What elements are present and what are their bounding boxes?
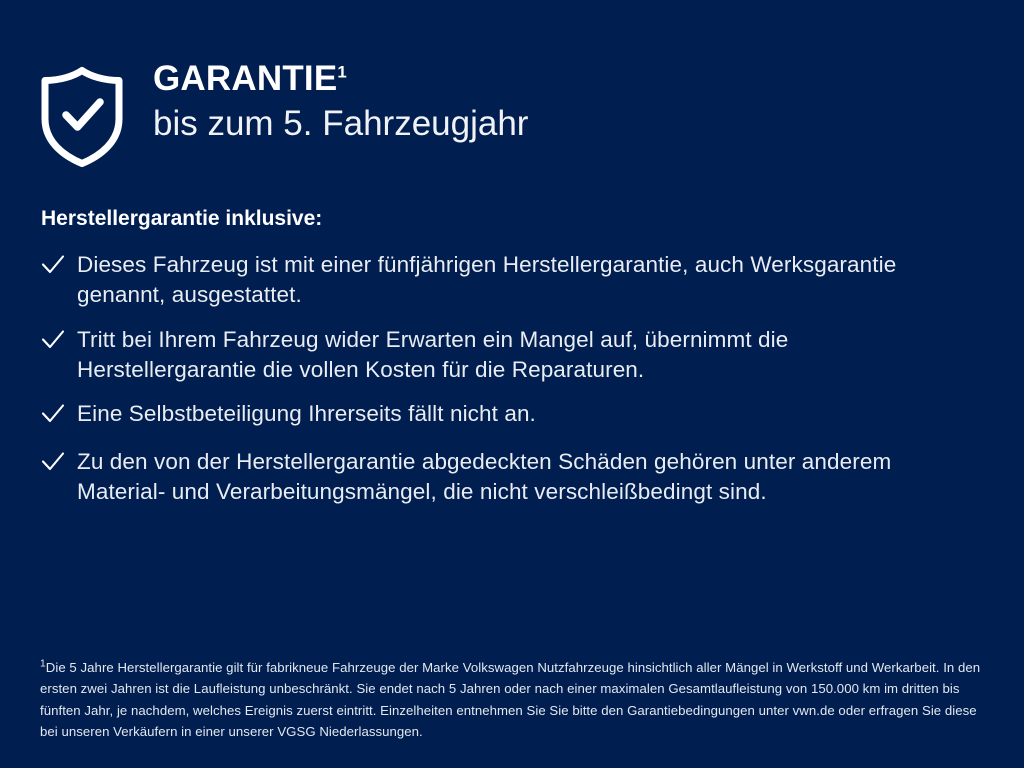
benefits-list: Dieses Fahrzeug ist mit einer fünfjährig… bbox=[41, 250, 971, 507]
lead-heading: Herstellergarantie inklusive: bbox=[41, 205, 971, 232]
footnote: 1Die 5 Jahre Herstellergarantie gilt für… bbox=[40, 657, 990, 743]
check-icon bbox=[41, 254, 77, 284]
list-item: Dieses Fahrzeug ist mit einer fünfjährig… bbox=[41, 250, 971, 310]
list-item: Zu den von der Herstellergarantie abgede… bbox=[41, 447, 971, 507]
list-item-label: Dieses Fahrzeug ist mit einer fünfjährig… bbox=[77, 250, 971, 310]
list-item-label: Zu den von der Herstellergarantie abgede… bbox=[77, 447, 971, 507]
list-item: Tritt bei Ihrem Fahrzeug wider Erwarten … bbox=[41, 325, 971, 385]
page-title: GARANTIE1 bbox=[153, 60, 528, 97]
header-text-group: GARANTIE1 bis zum 5. Fahrzeugjahr bbox=[153, 58, 528, 145]
check-icon bbox=[41, 451, 77, 481]
warranty-slide: GARANTIE1 bis zum 5. Fahrzeugjahr Herste… bbox=[0, 0, 1024, 768]
shield-check-icon bbox=[40, 64, 124, 168]
main-content: Herstellergarantie inklusive: Dieses Fah… bbox=[41, 205, 971, 507]
list-item-label: Tritt bei Ihrem Fahrzeug wider Erwarten … bbox=[77, 325, 971, 385]
list-item: Eine Selbstbeteiligung Ihrerseits fällt … bbox=[41, 399, 971, 433]
page-subtitle: bis zum 5. Fahrzeugjahr bbox=[153, 103, 528, 145]
page-title-text: GARANTIE bbox=[153, 59, 337, 98]
page-title-footnote-marker: 1 bbox=[337, 62, 347, 81]
check-icon bbox=[41, 329, 77, 359]
header: GARANTIE1 bis zum 5. Fahrzeugjahr bbox=[40, 58, 528, 168]
check-icon bbox=[41, 403, 77, 433]
footnote-text: Die 5 Jahre Herstellergarantie gilt für … bbox=[40, 660, 980, 739]
list-item-label: Eine Selbstbeteiligung Ihrerseits fällt … bbox=[77, 399, 536, 429]
